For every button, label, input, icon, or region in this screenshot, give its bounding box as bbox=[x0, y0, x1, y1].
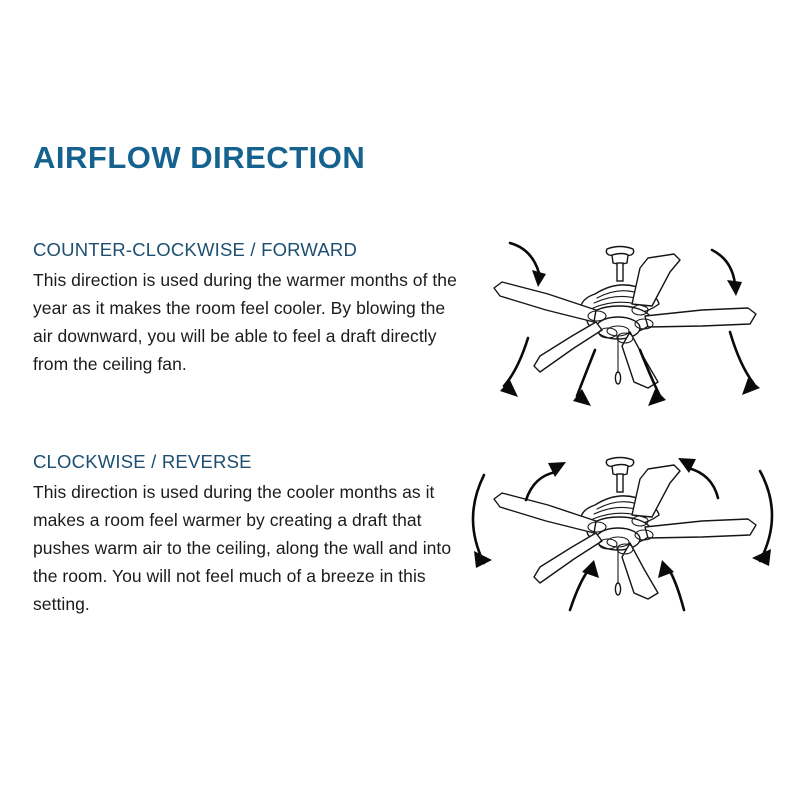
section-body-clockwise: This direction is used during the cooler… bbox=[33, 478, 458, 618]
airflow-direction-infographic: AIRFLOW DIRECTION COUNTER-CLOCKWISE / FO… bbox=[0, 0, 800, 800]
ceiling-fan-forward-diagram bbox=[462, 232, 782, 417]
section-heading-clockwise: CLOCKWISE / REVERSE bbox=[33, 450, 458, 474]
section-counter-clockwise: COUNTER-CLOCKWISE / FORWARD This directi… bbox=[33, 238, 458, 378]
page-title: AIRFLOW DIRECTION bbox=[33, 140, 365, 176]
ceiling-fan-reverse-diagram bbox=[462, 428, 782, 628]
section-body-counter-clockwise: This direction is used during the warmer… bbox=[33, 266, 458, 378]
section-heading-counter-clockwise: COUNTER-CLOCKWISE / FORWARD bbox=[33, 238, 458, 262]
fan-body-reverse bbox=[494, 458, 756, 600]
fan-body-forward bbox=[494, 247, 756, 389]
section-clockwise: CLOCKWISE / REVERSE This direction is us… bbox=[33, 450, 458, 618]
